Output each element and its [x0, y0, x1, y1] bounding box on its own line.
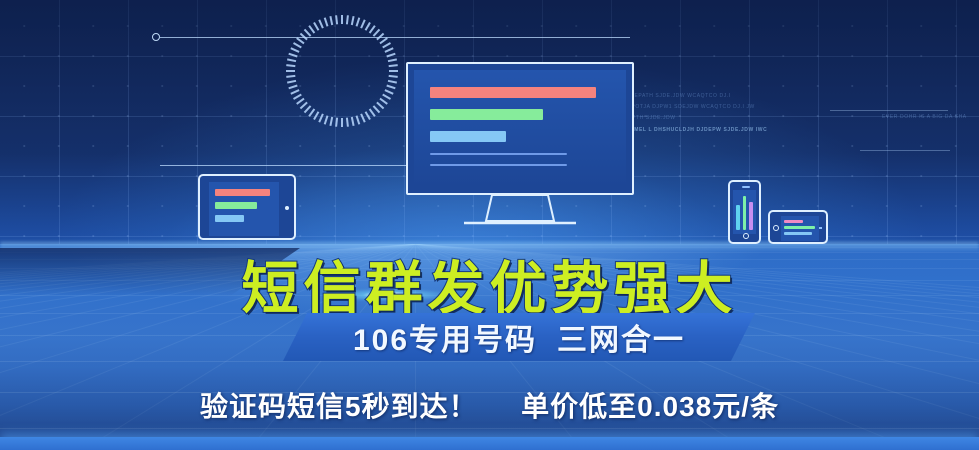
promo-banner: SAHD DEPATH SJDE.JDW WCAQTCO DJ.I HSKL H… [0, 0, 979, 450]
sub-banner-text: 106专用号码 三网合一 [283, 313, 755, 361]
tablet-home-button-icon [285, 206, 289, 210]
phone-portrait-screen [733, 190, 756, 234]
monitor-bar-2 [430, 131, 506, 142]
tablet-bar-0 [215, 189, 270, 196]
monitor-bar-4 [430, 164, 567, 166]
tablet-device [198, 174, 296, 240]
monitor-bar-3 [430, 153, 567, 155]
monitor-bar-1 [430, 109, 543, 120]
monitor-screen-content [414, 70, 626, 187]
tablet-bar-2 [215, 215, 244, 222]
phone-h-bar-0 [784, 220, 803, 223]
phone-v-bar-0 [736, 205, 740, 230]
smartphone-landscape-device [768, 210, 828, 244]
phone-home-button-icon [743, 233, 749, 239]
monitor-stand [464, 195, 576, 225]
monitor-bar-0 [430, 87, 596, 98]
monitor-screen [406, 62, 634, 195]
phone-landscape-speaker-icon [819, 227, 822, 229]
phone-landscape-body [768, 210, 828, 244]
phone-h-bar-2 [784, 232, 812, 235]
phone-h-bar-1 [784, 226, 815, 229]
node-connector-top [152, 33, 632, 43]
sub-banner-left-text: 106专用号码 [353, 315, 537, 359]
deco-line-mid-right [860, 150, 950, 151]
bottom-tagline: 验证码短信5秒到达！ 单价低至0.038元/条 [0, 385, 979, 425]
tablet-body [198, 174, 296, 240]
radial-tick-dial-icon [283, 12, 401, 130]
node-connector-left [160, 162, 420, 170]
phone-speaker-icon [742, 186, 750, 188]
phone-landscape-home-button-icon [773, 225, 779, 231]
phone-v-bar-2 [749, 202, 753, 230]
bottom-tagline-left: 验证码短信5秒到达！ [200, 391, 478, 422]
bottom-tagline-right: 单价低至0.038元/条 [521, 391, 779, 422]
sub-banner-right-text: 三网合一 [557, 315, 685, 359]
phone-landscape-screen [781, 216, 819, 241]
smartphone-portrait-device [728, 180, 761, 244]
phone-portrait-body [728, 180, 761, 244]
sub-banner-ribbon: 106专用号码 三网合一 [283, 313, 755, 361]
bottom-accent-strip [0, 437, 979, 450]
tablet-screen [209, 182, 279, 236]
tablet-bar-1 [215, 202, 257, 209]
deco-line-top-right [830, 110, 948, 111]
deco-text-far-right: EVER DOHR IS A BIG DA SHA [882, 113, 967, 121]
phone-v-bar-1 [743, 196, 747, 230]
headline-title: 短信群发优势强大 [0, 243, 979, 325]
desktop-monitor [406, 62, 634, 227]
